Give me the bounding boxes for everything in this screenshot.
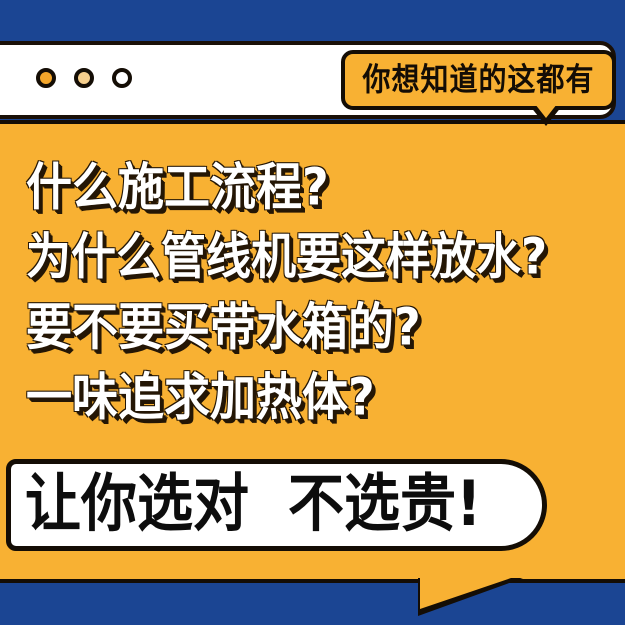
window-dot-3-icon[interactable] — [112, 68, 132, 88]
header-badge-tail-fill — [535, 104, 557, 118]
window-dot-1-icon[interactable] — [36, 68, 56, 88]
panel-tail-fill — [420, 576, 517, 609]
poster-canvas: 什么施工流程? 为什么管线机要这样放水? 要不要买带水箱的? 一味追求加热体? … — [0, 0, 625, 625]
bottom-blue-strip — [0, 583, 625, 625]
footer-slogan-banner: 让你选对 不选贵! — [6, 459, 547, 551]
header-badge-bubble: 你想知道的这都有 — [341, 50, 616, 110]
question-line-2: 为什么管线机要这样放水? — [26, 219, 616, 296]
footer-slogan-label: 让你选对 不选贵! — [25, 474, 482, 537]
question-line-3: 要不要买带水箱的? — [26, 289, 616, 366]
window-dot-2-icon[interactable] — [74, 68, 94, 88]
header-badge-label: 你想知道的这都有 — [362, 64, 594, 95]
question-line-1: 什么施工流程? — [26, 149, 616, 226]
question-list: 什么施工流程? 为什么管线机要这样放水? 要不要买带水箱的? 一味追求加热体? — [26, 152, 616, 432]
window-control-dots — [36, 68, 132, 88]
question-line-4: 一味追求加热体? — [26, 359, 616, 436]
